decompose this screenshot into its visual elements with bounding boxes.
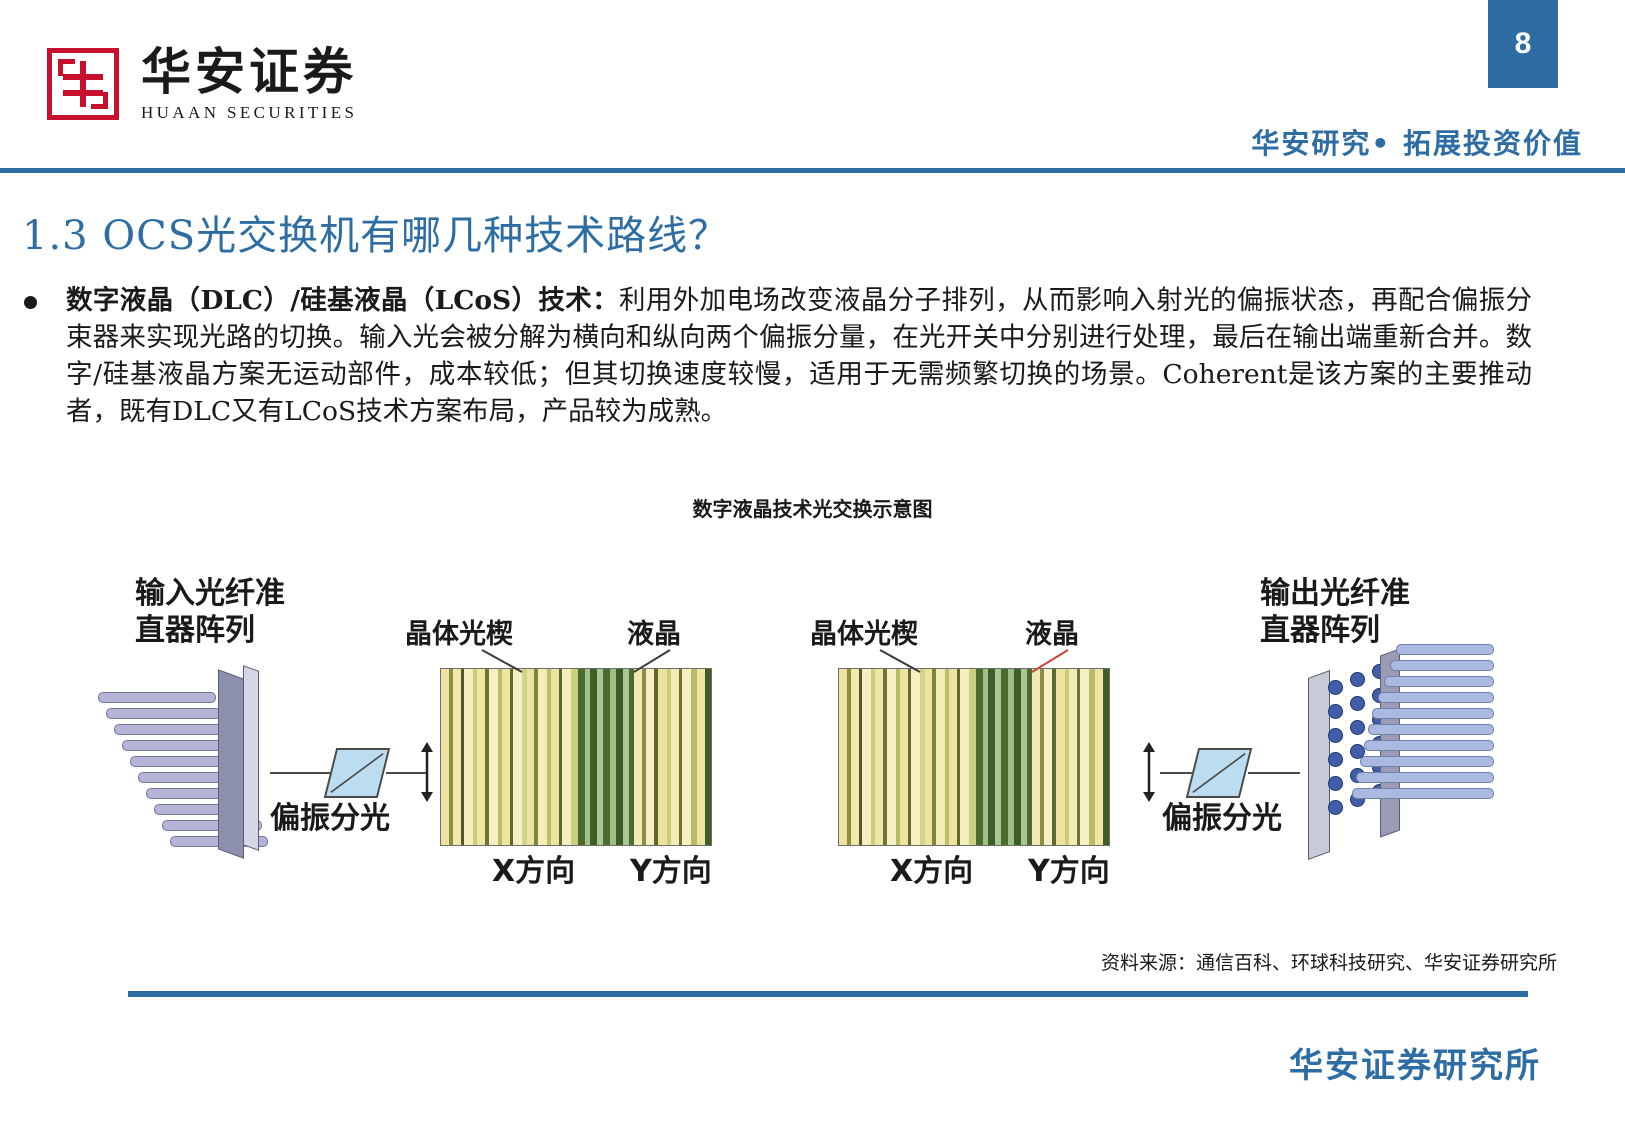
right-polarization-arrow-icon	[1138, 742, 1160, 802]
footer-brand: 华安证券研究所	[1289, 1038, 1541, 1087]
footer-divider	[128, 991, 1528, 997]
label-crystal-wedge-right: 晶体光楔	[810, 619, 918, 652]
header-tagline: 华安研究• 拓展投资价值	[1251, 122, 1583, 162]
logo-english-name: HUAAN SECURITIES	[141, 103, 357, 123]
page-number: 8	[1515, 27, 1532, 61]
huaan-logo-icon	[47, 48, 119, 120]
label-x-direction-right: X方向	[890, 854, 973, 891]
right-stack-leader-lines-icon	[836, 648, 1111, 694]
label-polarizer-left: 偏振分光	[270, 801, 390, 838]
body-paragraph: 数字液晶（DLC）/硅基液晶（LCoS）技术：利用外加电场改变液晶分子排列，从而…	[66, 282, 1532, 430]
label-polarizer-right: 偏振分光	[1162, 801, 1282, 838]
label-x-direction-left: X方向	[492, 854, 575, 891]
logo-text: 华安证券 HUAAN SECURITIES	[141, 46, 357, 123]
right-polarizing-beam-splitter	[1186, 748, 1252, 798]
source-note: 资料来源：通信百科、环球科技研究、华安证券研究所	[1101, 948, 1557, 975]
input-faceplate	[218, 669, 244, 858]
prism-diagonal-icon-right	[1188, 750, 1249, 796]
left-crystal-stack	[440, 668, 712, 846]
label-liquid-crystal-left: 液晶	[627, 619, 681, 652]
left-polarizing-beam-splitter	[324, 748, 390, 798]
left-stack-leader-lines-icon	[438, 648, 713, 694]
label-input-fiber-array: 输入光纤准 直器阵列	[135, 576, 285, 649]
label-output-fiber-array: 输出光纤准 直器阵列	[1260, 576, 1410, 649]
input-faceplate-back	[243, 665, 259, 851]
header-divider	[0, 168, 1625, 173]
body-lead: 数字液晶（DLC）/硅基液晶（LCoS）技术：	[66, 285, 619, 316]
label-y-direction-right: Y方向	[1028, 854, 1110, 891]
page-number-badge: 8	[1488, 0, 1558, 88]
output-faceplate	[1308, 670, 1330, 860]
company-logo: 华安证券 HUAAN SECURITIES	[47, 46, 357, 123]
logo-chinese-name: 华安证券	[141, 46, 357, 99]
page-title: 1.3 OCS光交换机有哪几种技术路线？	[22, 203, 729, 261]
label-crystal-wedge-left: 晶体光楔	[405, 619, 513, 652]
optical-switch-diagram: 输入光纤准 直器阵列 偏振分光 晶体光楔 液晶 X方向 Y方向 晶体光楔 液晶 …	[80, 556, 1550, 936]
right-crystal-stack	[838, 668, 1110, 846]
prism-diagonal-icon	[326, 750, 387, 796]
left-polarization-arrow-icon	[416, 742, 438, 802]
figure-caption: 数字液晶技术光交换示意图	[0, 493, 1625, 522]
label-y-direction-left: Y方向	[630, 854, 712, 891]
bullet-marker	[24, 296, 37, 309]
label-liquid-crystal-right: 液晶	[1025, 619, 1079, 652]
